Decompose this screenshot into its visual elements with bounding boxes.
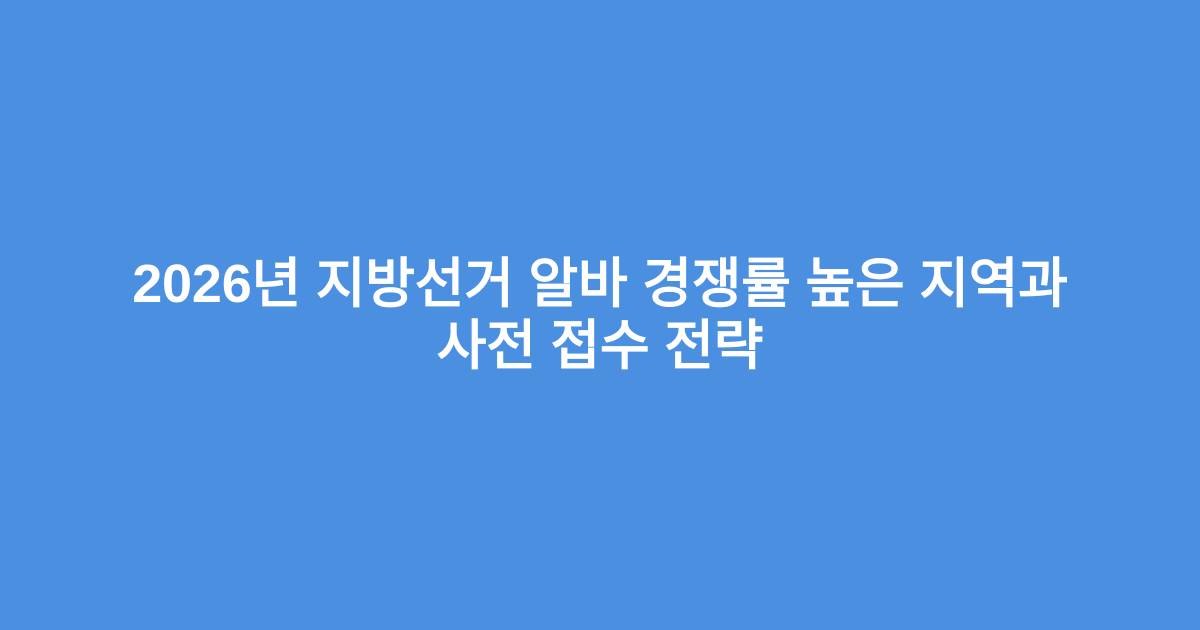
page-title: 2026년 지방선거 알바 경쟁률 높은 지역과 사전 접수 전략 bbox=[100, 253, 1100, 377]
og-card: 2026년 지방선거 알바 경쟁률 높은 지역과 사전 접수 전략 bbox=[0, 0, 1200, 630]
title-container: 2026년 지방선거 알바 경쟁률 높은 지역과 사전 접수 전략 bbox=[100, 253, 1100, 377]
